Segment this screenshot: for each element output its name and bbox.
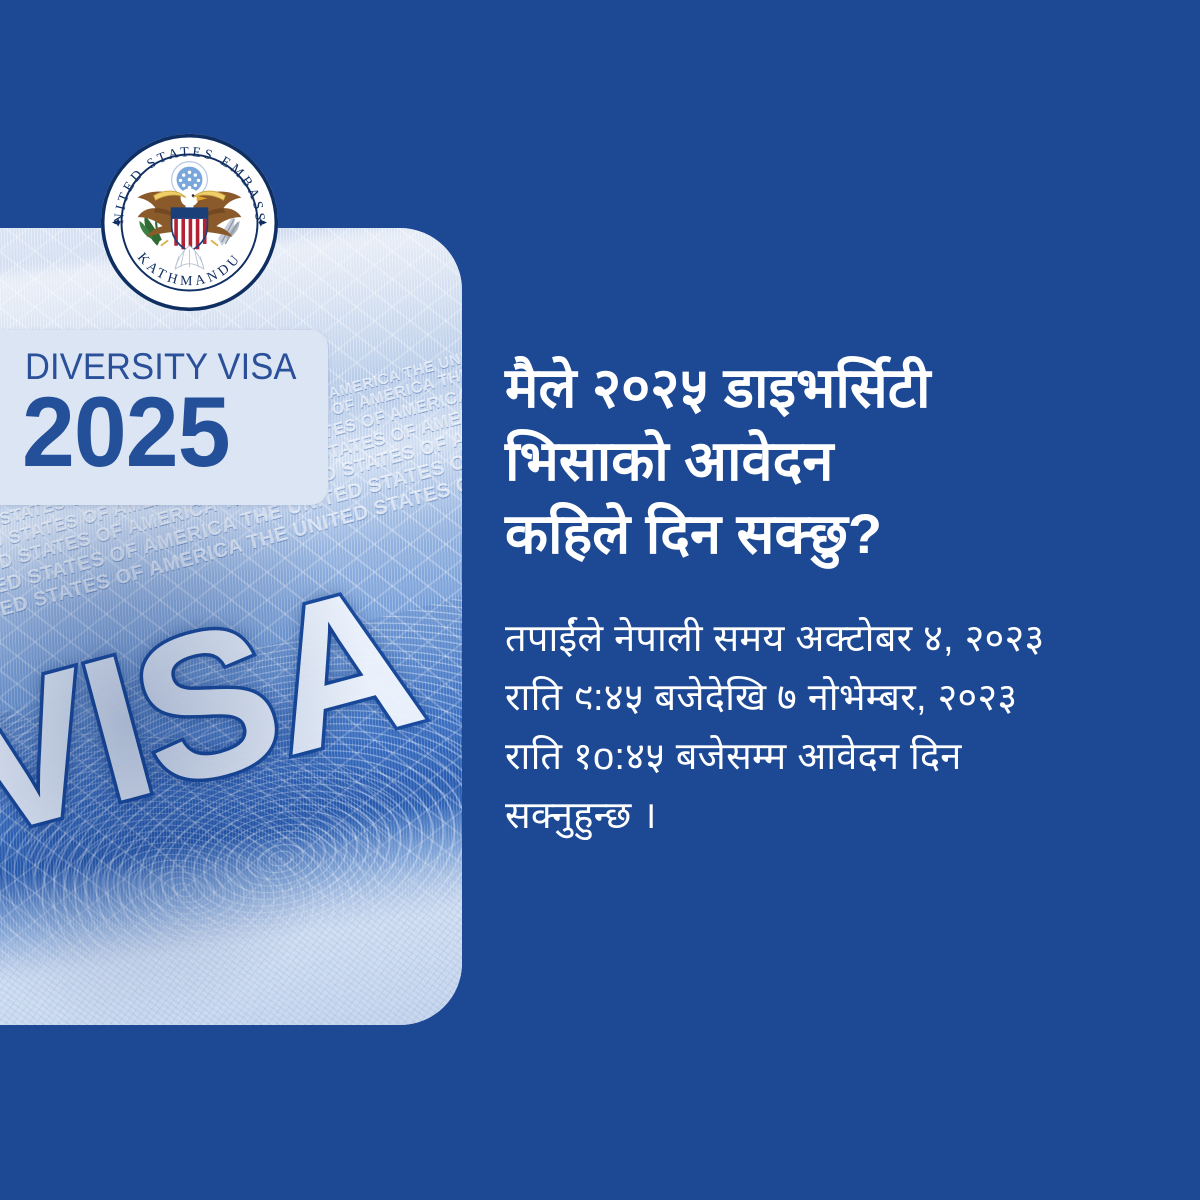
diversity-visa-badge: DIVERSITY VISA 2025	[0, 330, 328, 505]
text-column: मैले २०२५ डाइभर्सिटी भिसाको आवेदन कहिले …	[505, 352, 1165, 846]
body-paragraph: तपाईंले नेपाली समय अक्टोबर ४, २०२३ राति …	[505, 570, 1165, 846]
badge-year: 2025	[22, 382, 230, 481]
headline-line-3: कहिले दिन सक्छु?	[505, 498, 1165, 571]
headline-line-2: भिसाको आवेदन	[505, 425, 1165, 498]
embassy-seal: UNITED STATES EMBASSY KATHMANDU	[100, 133, 279, 312]
poster-canvas: UNITED STATES OF AMERICA THE UNITED STAT…	[0, 0, 1200, 1200]
body-line-3: राति १o:४५ बजेसम्म आवेदन दिन	[505, 728, 1165, 787]
headline-line-1: मैले २०२५ डाइभर्सिटी	[505, 352, 1165, 425]
page-title: मैले २०२५ डाइभर्सिटी भिसाको आवेदन कहिले …	[505, 352, 1165, 570]
body-line-4: सक्नुहुन्छ ।	[505, 787, 1165, 846]
body-line-2: राति ९:४५ बजेदेखि ७ नोभेम्बर, २०२३	[505, 669, 1165, 728]
body-line-1: तपाईंले नेपाली समय अक्टोबर ४, २०२३	[505, 610, 1165, 669]
